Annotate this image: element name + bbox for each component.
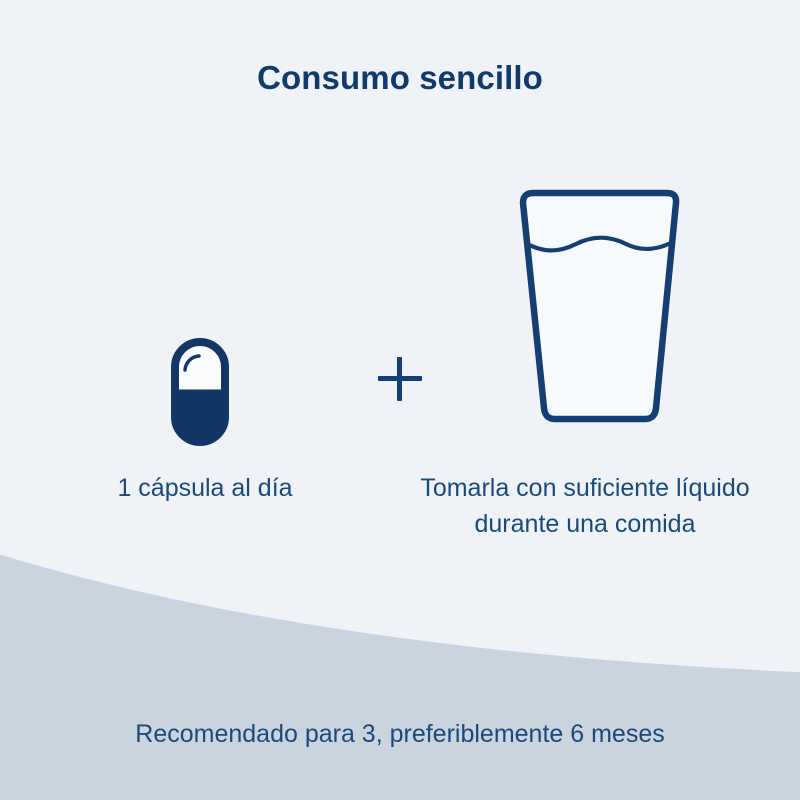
capsule-icon: [161, 337, 239, 447]
page-title: Consumo sencillo: [0, 58, 800, 98]
caption-water: Tomarla con suficiente líquido durante u…: [420, 470, 750, 543]
water-glass-icon: [506, 186, 694, 436]
icon-row: [0, 180, 800, 430]
water-glass-icon-container: [400, 180, 800, 430]
caption-capsule: 1 cápsula al día: [40, 470, 370, 506]
infographic-card: Consumo sencillo: [0, 0, 800, 800]
caption-row: 1 cápsula al día Tomarla con suficiente …: [0, 470, 800, 610]
footer-note: Recomendado para 3, preferiblemente 6 me…: [0, 718, 800, 751]
capsule-icon-container: [0, 180, 400, 430]
